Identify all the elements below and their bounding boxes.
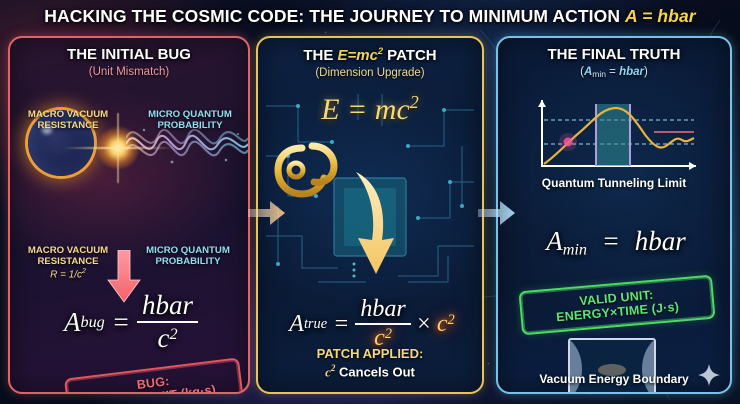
- formula-equals: =: [105, 307, 137, 338]
- chart-caption-quantum-tunneling-limit: Quantum Tunneling Limit: [498, 176, 730, 190]
- formula-a-true: Atrue = hbar c2 × c2: [266, 296, 478, 352]
- page-title: HACKING THE COSMIC CODE: THE JOURNEY TO …: [44, 6, 695, 27]
- caption-cancels-out: c2 Cancels Out: [258, 363, 482, 380]
- label-micro-quantum-probability-bottom: MICRO QUANTUM PROBABILITY: [138, 246, 238, 267]
- label-micro-quantum-probability-top: MICRO QUANTUM PROBABILITY: [142, 110, 238, 131]
- connector-arrow-panel2-to-panel3: [478, 198, 516, 228]
- chart-marker: [559, 133, 577, 151]
- formula-fraction: hbar c2: [355, 296, 410, 352]
- panel-emc2-patch[interactable]: THE E=mc2 PATCH (Dimension Upgrade): [256, 36, 484, 394]
- panel-2-caption: PATCH APPLIED: c2 Cancels Out: [258, 346, 482, 380]
- formula-equals: =: [594, 226, 628, 256]
- formula-fraction: hbar c2: [137, 290, 198, 354]
- panel-3-title: THE FINAL TRUTH: [498, 47, 730, 64]
- formula-rhs: c2: [437, 311, 455, 338]
- panel-1-subtitle: (Unit Mismatch): [10, 66, 248, 79]
- panel-2-title-pre: THE: [303, 47, 337, 64]
- formula-numerator: hbar: [355, 296, 410, 323]
- formula-numerator: hbar: [137, 290, 198, 321]
- formula-lhs: A: [546, 226, 563, 256]
- formula-lhs: A: [289, 311, 304, 338]
- infographic-root: HACKING THE COSMIC CODE: THE JOURNEY TO …: [0, 0, 740, 404]
- curved-down-arrow-icon: [350, 168, 410, 280]
- equation-e-equals-mc-squared: E = mc2: [258, 92, 482, 127]
- label-macro-vacuum-resistance-bottom: MACRO VACUUM RESISTANCE R = 1/c2: [20, 246, 116, 281]
- formula-denominator: c2: [137, 321, 198, 354]
- quantum-tunneling-chart: [524, 96, 704, 174]
- sparkle-icon: [698, 364, 720, 386]
- formula-rhs: hbar: [635, 226, 686, 256]
- panel-3-subtitle: (Amin = hbar): [498, 66, 730, 79]
- panel-2-title-post: PATCH: [383, 47, 437, 64]
- panel-final-truth[interactable]: THE FINAL TRUTH (Amin = hbar): [496, 36, 732, 394]
- formula-equals: =: [327, 311, 355, 338]
- formula-a-min: Amin = hbar: [508, 226, 724, 260]
- panel-1-title: THE INITIAL BUG: [10, 47, 248, 64]
- formula-lhs-subscript: true: [304, 316, 327, 333]
- panel-2-title: THE E=mc2 PATCH: [258, 47, 482, 65]
- page-title-main: HACKING THE COSMIC CODE: THE JOURNEY TO …: [44, 6, 625, 26]
- formula-multiply: ×: [411, 311, 437, 338]
- label-resistance-equation: R = 1/c2: [20, 268, 116, 281]
- caption-patch-applied: PATCH APPLIED:: [258, 346, 482, 361]
- panel-2-title-accent: E=mc: [338, 47, 378, 64]
- image-caption-vacuum-energy-boundary: Vacuum Energy Boundary: [498, 372, 730, 386]
- page-title-bar: HACKING THE COSMIC CODE: THE JOURNEY TO …: [0, 0, 740, 32]
- panel-2-subtitle: (Dimension Upgrade): [258, 67, 482, 80]
- page-title-accent: A = hbar: [625, 6, 696, 26]
- panel-initial-bug[interactable]: THE INITIAL BUG (Unit Mismatch): [8, 36, 250, 394]
- formula-lhs: A: [64, 307, 81, 338]
- status-badge-valid-unit: VALID UNIT: ENERGY×TIME (J·s): [518, 275, 715, 336]
- formula-lhs-subscript: bug: [80, 313, 104, 332]
- connector-arrow-panel1-to-panel2: [248, 198, 286, 228]
- formula-lhs-subscript: min: [563, 241, 587, 259]
- status-badge-invalid-unit: BUG: INVALID UNIT (kg·s): [64, 357, 244, 394]
- formula-a-bug: Abug = hbar c2: [24, 290, 238, 354]
- label-macro-text: MACRO VACUUM RESISTANCE: [28, 245, 108, 267]
- label-macro-vacuum-resistance-top: MACRO VACUUM RESISTANCE: [22, 110, 114, 131]
